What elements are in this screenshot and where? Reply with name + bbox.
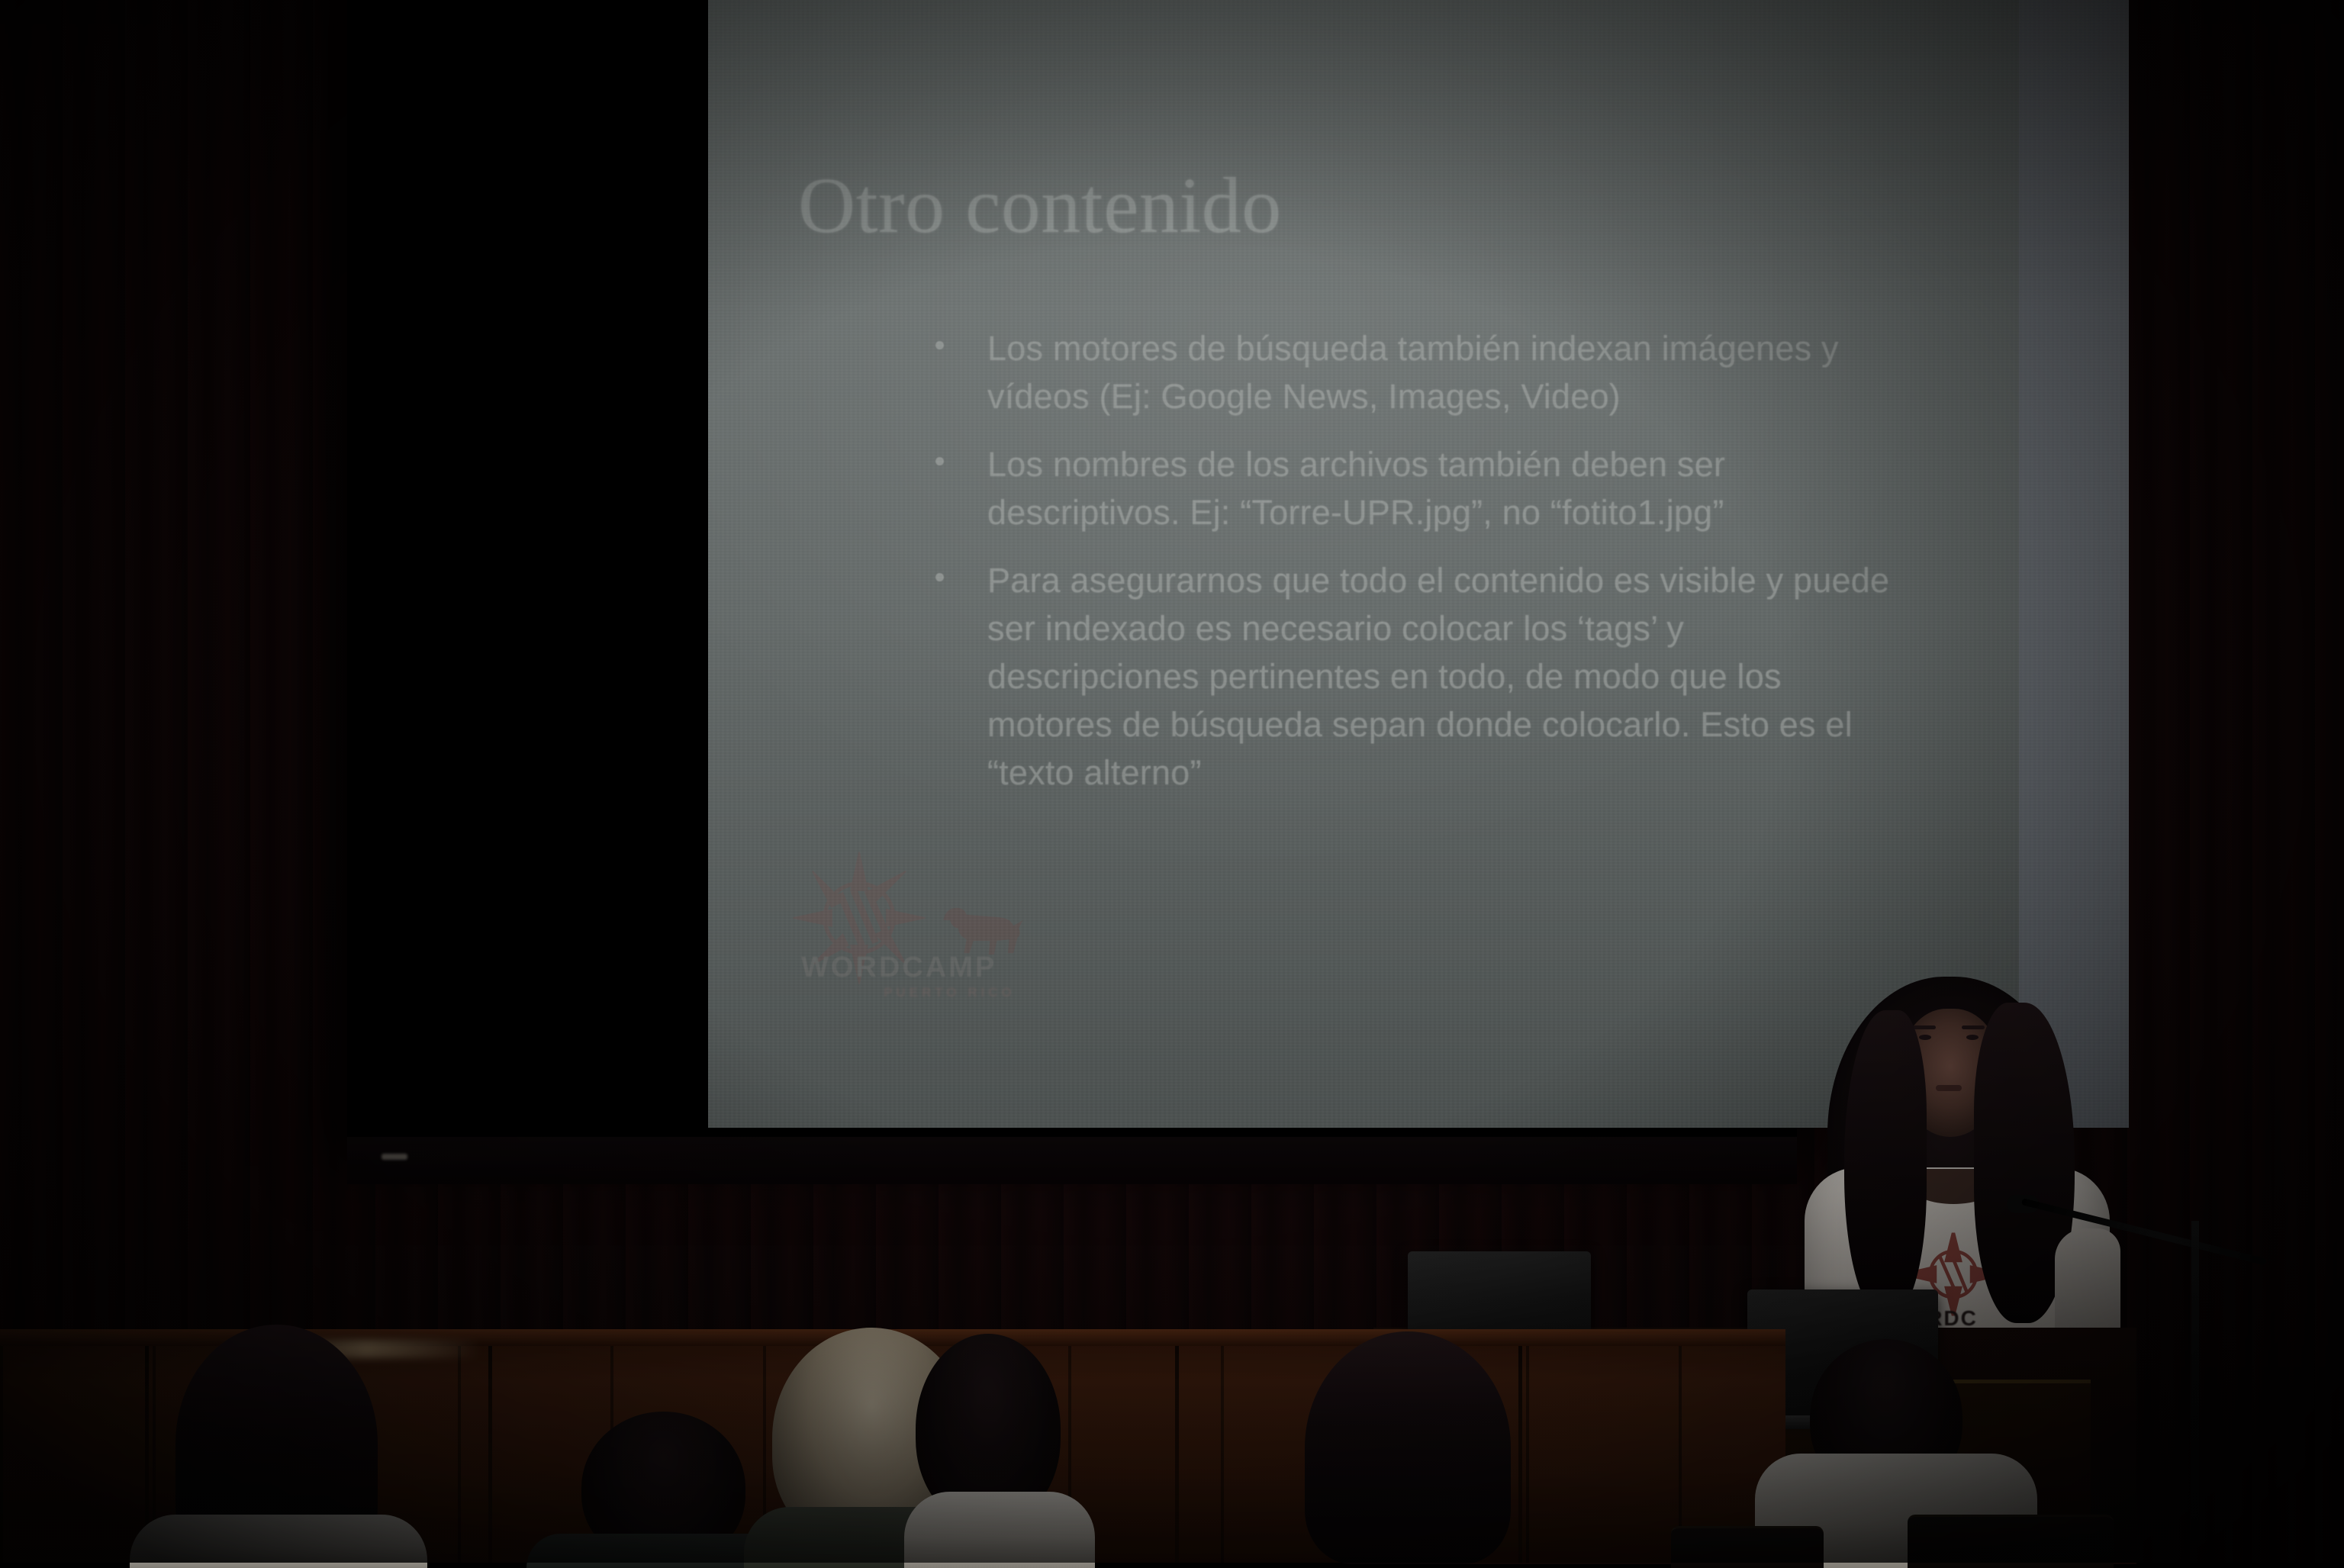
slide-bullet-text: Para asegurarnos que todo el contenido e… (987, 556, 1897, 797)
bullet-dot-icon (935, 457, 944, 465)
bullet-dot-icon (935, 341, 944, 349)
speaker-eye-left (1919, 1035, 1931, 1040)
projection-screen-surface: Otro contenido Los motores de búsqueda t… (708, 0, 2129, 1128)
audience-head-long-dark-hair-2 (1305, 1331, 1511, 1564)
wordcamp-subtitle: PUERTO RICO (884, 985, 1016, 1000)
slide-bullet-item: Los motores de búsqueda también indexan … (913, 324, 1897, 420)
wood-panel-seam (1175, 1329, 1179, 1563)
wordcamp-logo: WORDCAMP PUERTO RICO (784, 849, 1036, 1002)
lion-icon (931, 898, 1027, 956)
bullet-dot-icon (935, 573, 944, 581)
slide-bullet-text: Los motores de búsqueda también indexan … (987, 324, 1897, 420)
projection-screen-frame: Otro contenido Los motores de búsqueda t… (347, 0, 1797, 1143)
slide-bullet-item: Los nombres de los archivos también debe… (913, 440, 1897, 536)
audience-shoulders-white-2 (904, 1492, 1095, 1568)
microphone-stand (2191, 1221, 2199, 1541)
speaker-hair-left (1844, 1010, 1927, 1315)
slide-right-edge-band (2019, 0, 2129, 1128)
slide-bullet-list: Los motores de búsqueda también indexan … (913, 324, 1897, 816)
speaker-eye-right (1966, 1035, 1979, 1040)
screen-bottom-bezel (347, 1137, 1797, 1184)
speaker-eyebrow-right (1962, 1025, 1985, 1029)
speaker-eyebrow-left (1913, 1025, 1936, 1029)
auditorium-seat-back (1908, 1515, 2114, 1568)
presentation-slide: Otro contenido Los motores de búsqueda t… (708, 0, 2019, 1128)
speaker-mouth (1936, 1085, 1962, 1091)
wood-panel-seam (488, 1329, 492, 1563)
auditorium-room: Otro contenido Los motores de búsqueda t… (0, 0, 2344, 1563)
slide-title: Otro contenido (798, 160, 1282, 251)
slide-bullet-item: Para asegurarnos que todo el contenido e… (913, 556, 1897, 797)
bezel-light-fleck (382, 1154, 407, 1160)
audience-shoulders-white (130, 1515, 427, 1568)
slide-bullet-text: Los nombres de los archivos también debe… (987, 440, 1897, 536)
wood-panel-seam (1518, 1329, 1522, 1563)
wordcamp-wordmark: WORDCAMP (801, 951, 997, 984)
auditorium-seat-back-2 (1671, 1526, 1824, 1568)
